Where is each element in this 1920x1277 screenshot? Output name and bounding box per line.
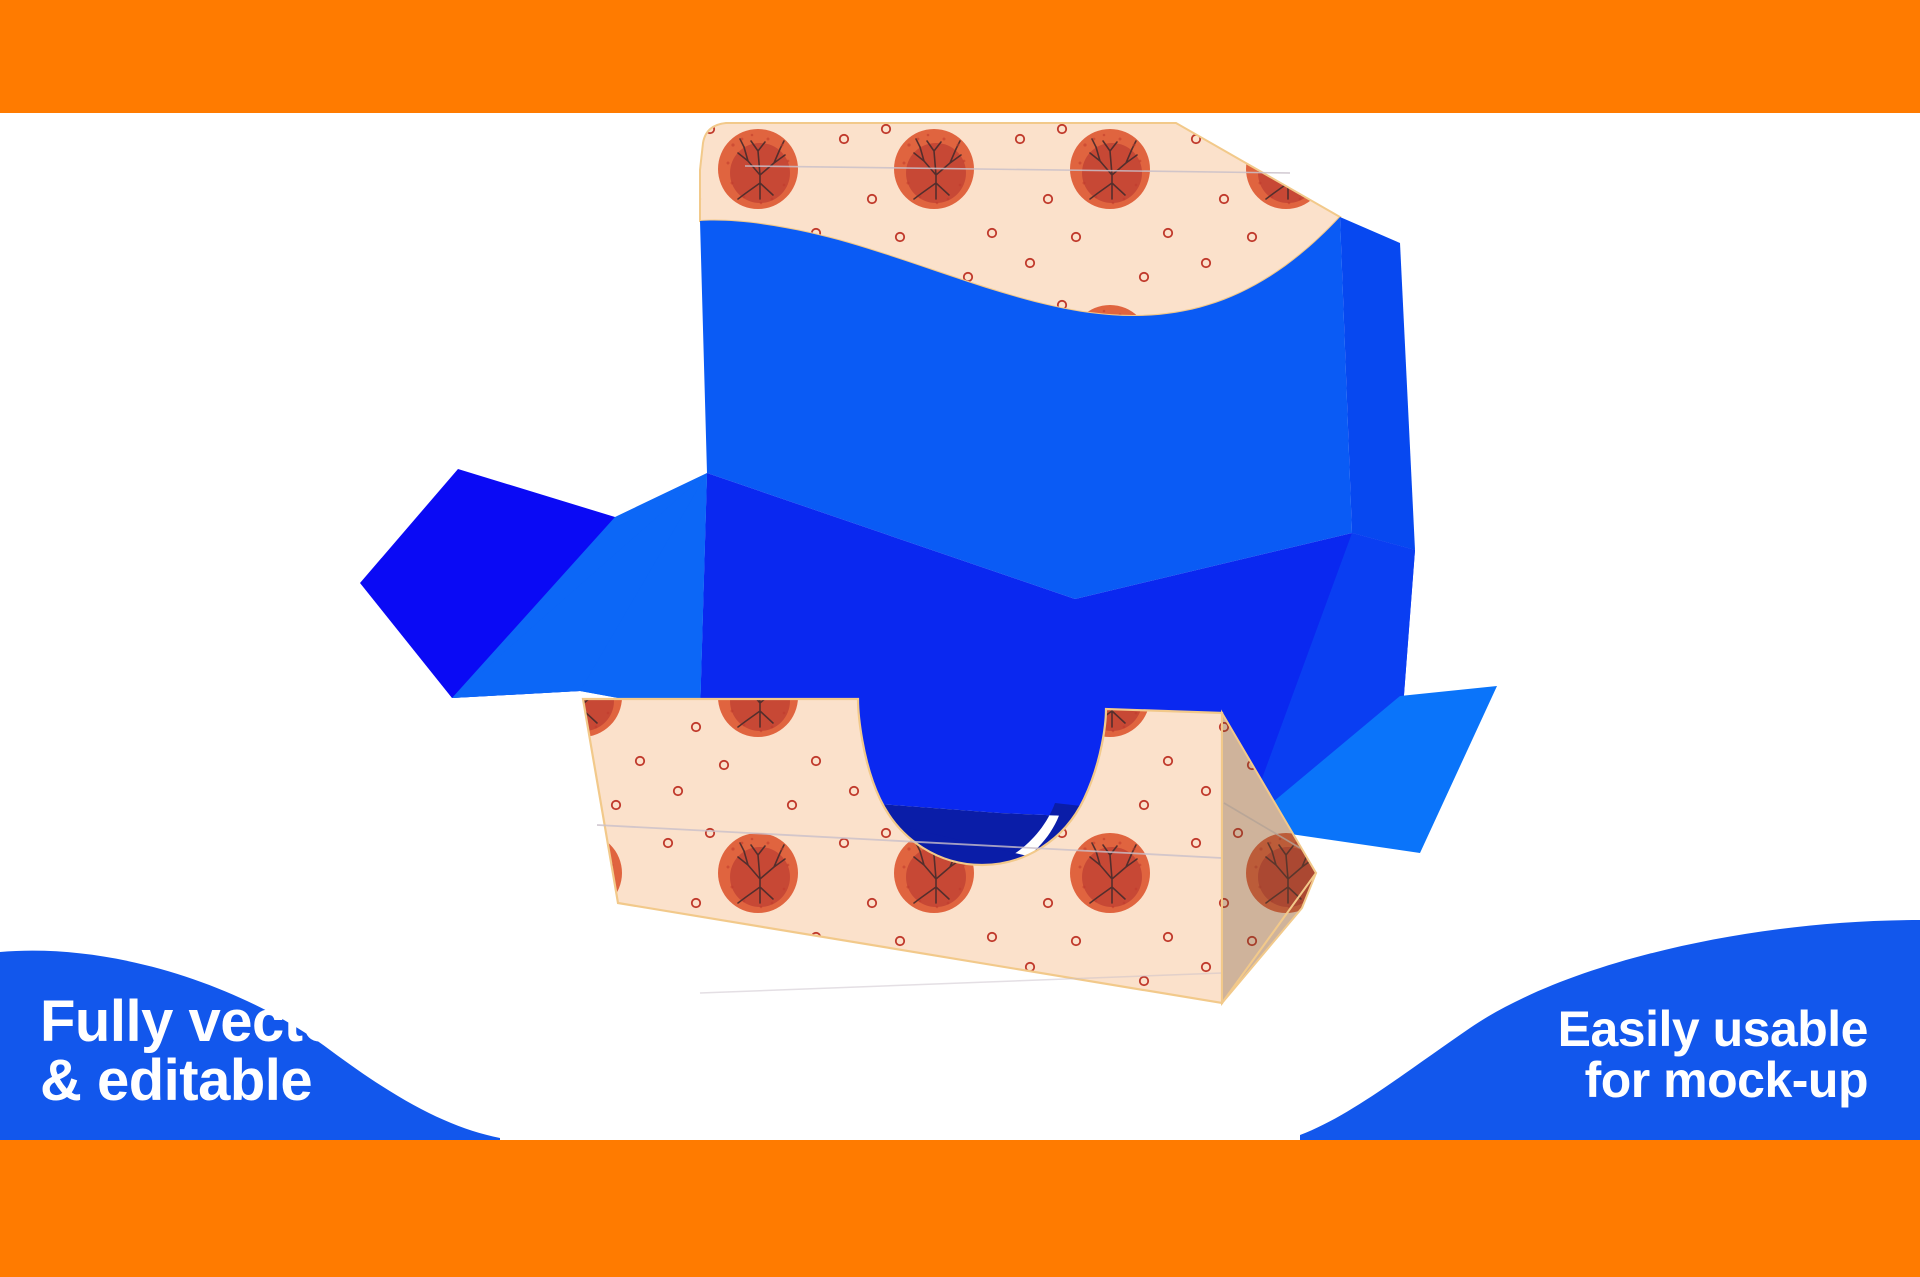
ribbon-left-text: Fully vector & editable [40, 992, 360, 1110]
bottom-orange-bar [0, 1140, 1920, 1277]
screenshot-stage: Fully vector & editable Easily usable fo… [0, 0, 1920, 1277]
top-orange-bar [0, 0, 1920, 113]
ribbon-right-text: Easily usable for mock-up [1558, 1004, 1868, 1106]
panel-lid-right-side-blue [1340, 217, 1415, 550]
mockup-artboard: Fully vector & editable Easily usable fo… [0, 113, 1920, 1140]
